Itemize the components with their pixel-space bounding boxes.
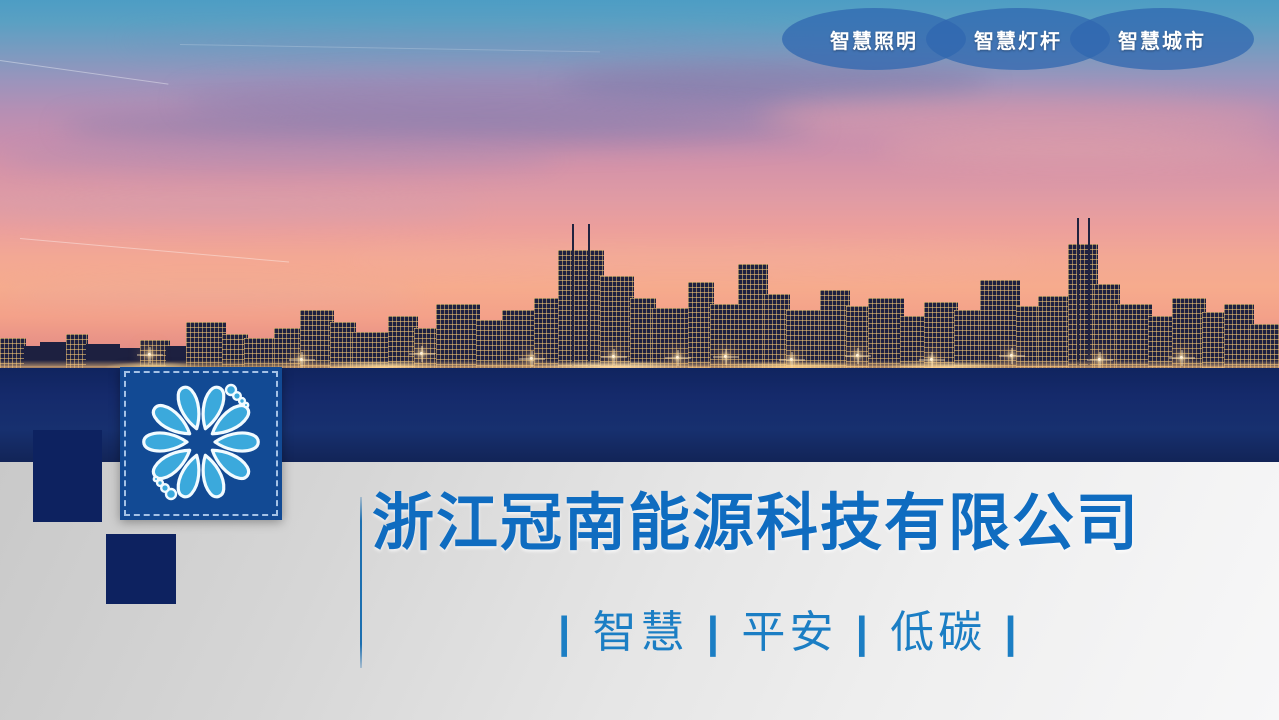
badge-group: 智慧照明 智慧灯杆 智慧城市	[760, 8, 1240, 70]
decor-square-large	[33, 430, 102, 522]
badge-smart-lighting-label: 智慧照明	[830, 25, 918, 54]
skyline-antenna	[1077, 218, 1079, 368]
tagline-separator: |	[1002, 608, 1022, 657]
flower-petal-logo-icon	[129, 372, 273, 516]
badge-smart-city-label: 智慧城市	[1118, 25, 1206, 54]
company-logo[interactable]	[120, 367, 282, 520]
cloud-band	[760, 96, 1279, 140]
decor-square-small	[106, 534, 176, 604]
tagline-separator: |	[705, 608, 725, 657]
tagline-part-2: 平安	[741, 608, 837, 657]
light-flare	[930, 358, 933, 361]
tagline: | 智慧 | 平安 | 低碳 |	[556, 596, 1023, 660]
city-skyline	[0, 158, 1279, 368]
tagline-separator: |	[556, 608, 576, 657]
skyline-building	[1038, 296, 1072, 368]
skyline-building	[868, 298, 904, 368]
badge-smart-pole-label: 智慧灯杆	[974, 25, 1062, 54]
tagline-part-3: 低碳	[890, 608, 986, 657]
light-flare	[1098, 358, 1101, 361]
light-flare	[1010, 354, 1013, 357]
skyline-antenna	[588, 224, 590, 368]
light-flare	[856, 354, 859, 357]
tagline-separator: |	[854, 608, 874, 657]
light-flare	[724, 355, 727, 358]
light-flare	[790, 358, 793, 361]
skyline-antenna	[572, 224, 574, 368]
tagline-part-1: 智慧	[593, 608, 689, 657]
light-flare	[1180, 356, 1183, 359]
skyline-building	[652, 308, 692, 368]
skyline-antenna	[1088, 218, 1090, 368]
title-accent-rule	[360, 497, 362, 668]
light-flare	[676, 356, 679, 359]
light-flare	[612, 355, 615, 358]
skyline-building	[436, 304, 480, 368]
light-flare	[148, 353, 151, 356]
page-title: 浙江冠南能源科技有限公司	[372, 492, 1132, 555]
light-flare	[530, 357, 533, 360]
light-flare	[420, 352, 423, 355]
slide-canvas: 智慧照明 智慧灯杆 智慧城市 浙江冠南能源科技有限公司 | 智慧 | 平安 | …	[0, 0, 1279, 720]
skyline-building	[1116, 304, 1152, 368]
badge-smart-city[interactable]: 智慧城市	[1070, 8, 1254, 70]
skyline-building	[558, 250, 604, 368]
light-flare	[300, 358, 303, 361]
skyline-building	[600, 276, 634, 368]
